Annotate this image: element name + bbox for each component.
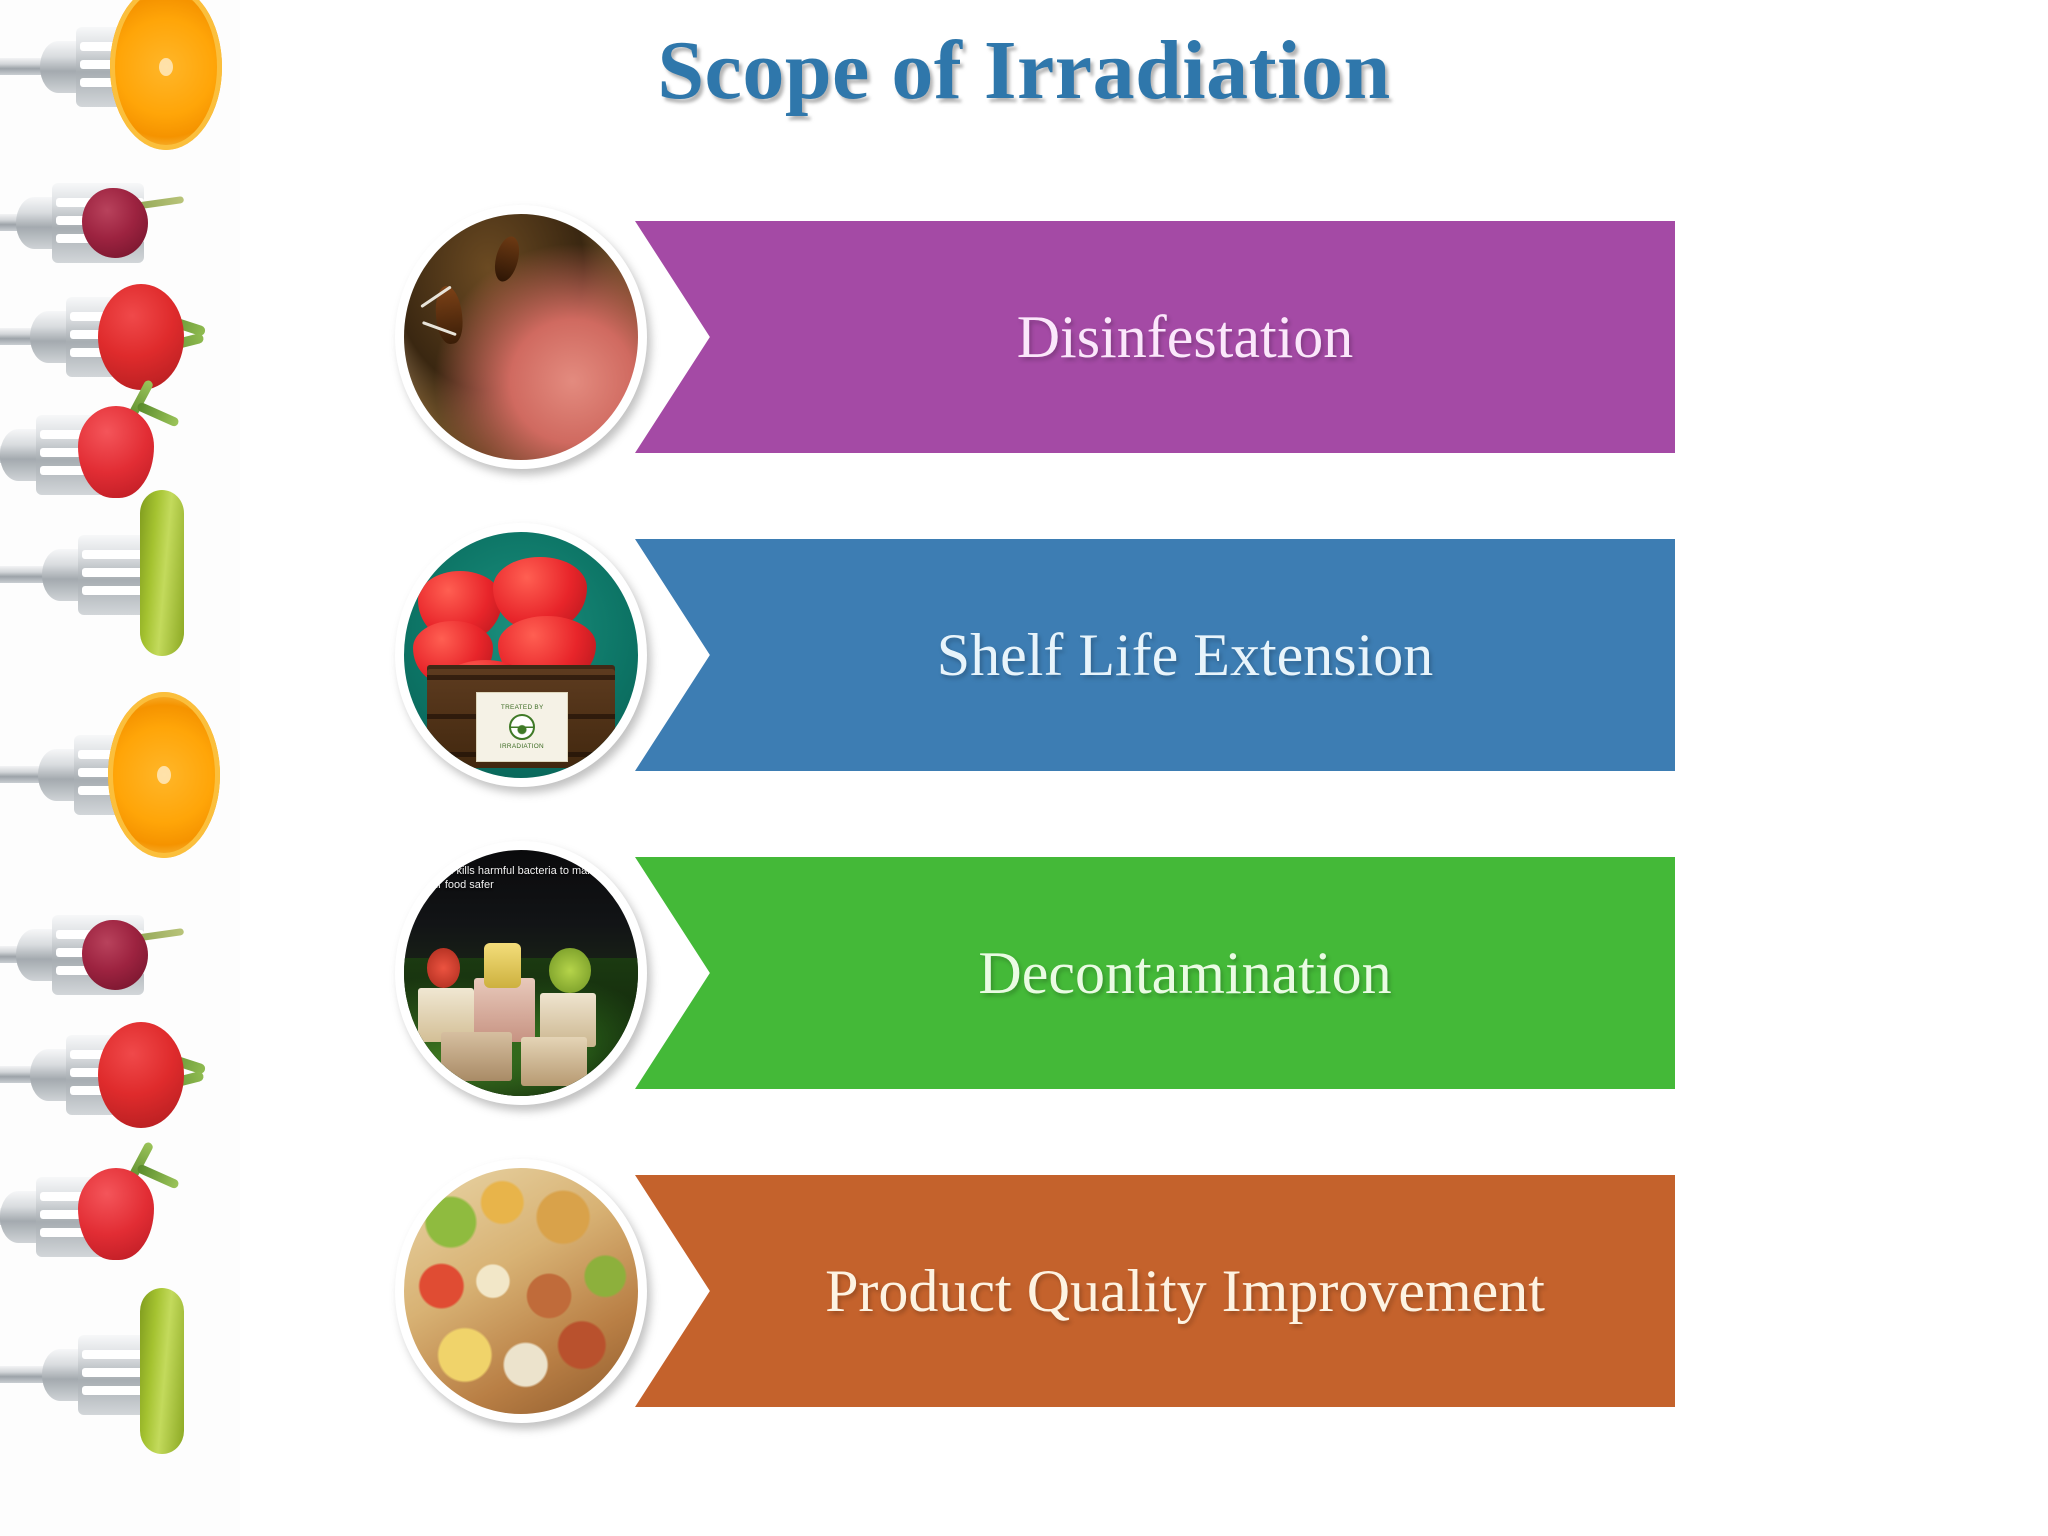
page-title: Scope of Irradiation xyxy=(0,22,2048,119)
fork-decoration-strip xyxy=(0,0,240,1536)
insect-pest-photo-icon xyxy=(404,214,638,460)
banner-image-bubble: TREATED BY IRRADIATION xyxy=(395,523,647,787)
banner-disinfestation[interactable]: Disinfestation xyxy=(635,221,1675,453)
photo-caption: ...ation kills harmful bacteria to make … xyxy=(420,865,621,893)
fork-with-orange-slice-icon xyxy=(0,700,240,850)
irradiation-label: TREATED BY IRRADIATION xyxy=(476,692,568,762)
list-item[interactable]: Product Quality Improvement xyxy=(395,1159,1695,1399)
irradiated-strawberry-basket-photo-icon: TREATED BY IRRADIATION xyxy=(404,532,638,778)
slide-root: Scope of Irradiation Disinfestation Shel… xyxy=(0,0,2048,1536)
insect-icon xyxy=(433,285,465,345)
insect-icon xyxy=(491,234,523,284)
banner-image-bubble: ...ation kills harmful bacteria to make … xyxy=(395,841,647,1105)
label-top-text: TREATED BY xyxy=(501,704,544,710)
fork-with-tomato-icon xyxy=(0,1000,240,1150)
list-item[interactable]: Shelf Life Extension TREATED BY xyxy=(395,523,1695,763)
banner-product-quality-improvement[interactable]: Product Quality Improvement xyxy=(635,1175,1675,1407)
fork-with-strawberry-icon xyxy=(0,1142,240,1292)
fork-with-pickle-icon xyxy=(0,500,240,650)
banner-image-bubble xyxy=(395,1159,647,1423)
banner-image-bubble xyxy=(395,205,647,469)
banner-label: Shelf Life Extension xyxy=(937,625,1434,685)
banner-decontamination[interactable]: Decontamination xyxy=(635,857,1675,1089)
label-bottom-text: IRRADIATION xyxy=(500,743,544,749)
radura-symbol-icon xyxy=(509,714,535,740)
list-item[interactable]: Disinfestation xyxy=(395,205,1695,445)
banner-label: Product Quality Improvement xyxy=(825,1261,1545,1321)
basket-icon: TREATED BY IRRADIATION xyxy=(427,665,614,768)
assorted-food-spread-photo-icon xyxy=(404,1168,638,1414)
scope-list: Disinfestation Shelf Life Extension xyxy=(395,205,1695,1477)
list-item[interactable]: Decontamination ...ation kills harmful b… xyxy=(395,841,1695,1081)
banner-label: Disinfestation xyxy=(1017,307,1354,367)
banner-shelf-life-extension[interactable]: Shelf Life Extension xyxy=(635,539,1675,771)
fork-with-pickle-icon xyxy=(0,1300,240,1450)
banner-label: Decontamination xyxy=(978,943,1391,1003)
packaged-food-irradiation-photo-icon: ...ation kills harmful bacteria to make … xyxy=(404,850,638,1096)
